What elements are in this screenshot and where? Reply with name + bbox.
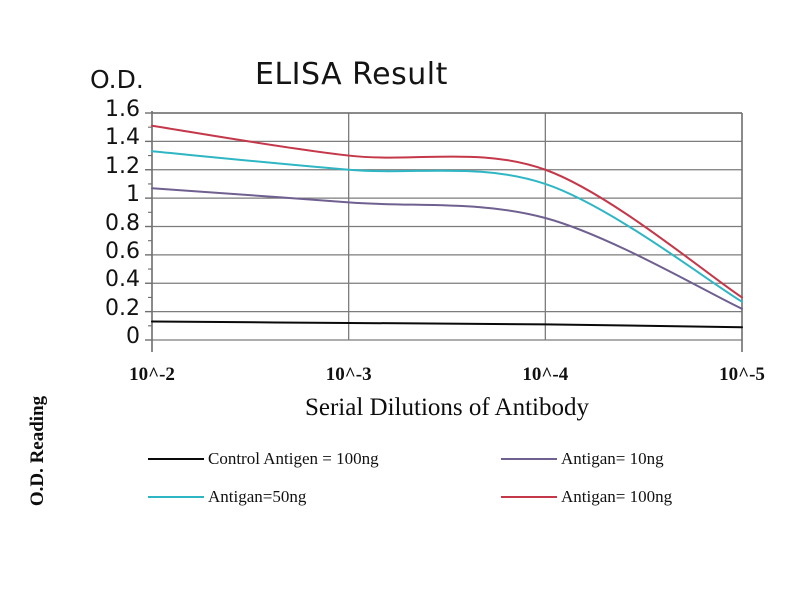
- y-tick-label: 1: [84, 182, 140, 207]
- legend-label: Antigan= 10ng: [561, 449, 664, 469]
- legend-row: Antigan=50ng Antigan= 100ng: [148, 478, 758, 516]
- y-tick-label: 0.6: [84, 239, 140, 264]
- y-tick-label: 1.4: [84, 125, 140, 150]
- legend-swatch-line-icon: [148, 458, 204, 460]
- y-tick-label: 0: [84, 324, 140, 349]
- y-tick-label: 1.6: [84, 97, 140, 122]
- chart-legend: Control Antigen = 100ng Antigan= 10ng An…: [148, 440, 758, 516]
- legend-label: Antigan=50ng: [208, 487, 306, 507]
- x-tick-label: 10^-3: [304, 364, 394, 386]
- legend-swatch-line-icon: [148, 496, 204, 498]
- legend-item-antigen-50ng: Antigan=50ng: [148, 478, 453, 516]
- x-tick-label: 10^-4: [500, 364, 590, 386]
- x-axis-title: Serial Dilutions of Antibody: [152, 394, 742, 422]
- legend-swatch-line-icon: [501, 496, 557, 498]
- y-tick-label: 1.2: [84, 154, 140, 179]
- legend-swatch-line-icon: [501, 458, 557, 460]
- y-tick-label: 0.8: [84, 211, 140, 236]
- legend-item-antigen-100ng: Antigan= 100ng: [453, 478, 758, 516]
- legend-label: Antigan= 100ng: [561, 487, 672, 507]
- y-tick-label: 0.2: [84, 296, 140, 321]
- x-tick-label: 10^-2: [107, 364, 197, 386]
- legend-item-control-antigen: Control Antigen = 100ng: [148, 440, 453, 478]
- gridlines-group: [152, 113, 742, 340]
- legend-label: Control Antigen = 100ng: [208, 449, 379, 469]
- y-tick-label: 0.4: [84, 267, 140, 292]
- x-tick-label: 10^-5: [697, 364, 787, 386]
- elisa-chart-figure: O.D. ELISA Result O.D. Reading 1.61.41.2…: [0, 0, 800, 600]
- legend-item-antigen-10ng: Antigan= 10ng: [453, 440, 758, 478]
- plot-frame: [152, 111, 742, 352]
- axis-ticks: [145, 113, 152, 340]
- legend-row: Control Antigen = 100ng Antigan= 10ng: [148, 440, 758, 478]
